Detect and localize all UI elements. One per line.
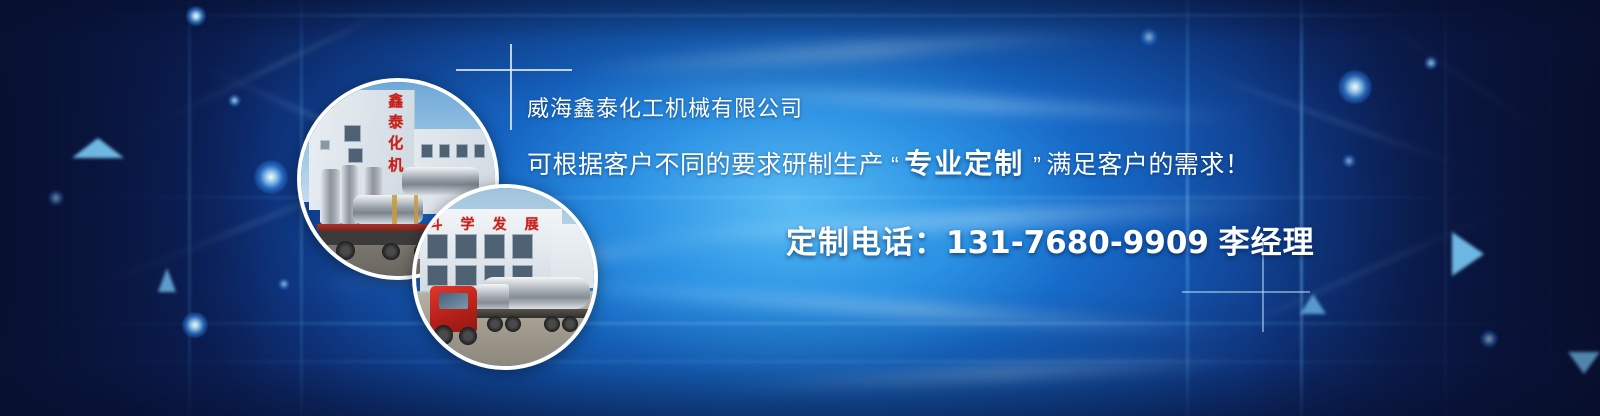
company-name: 威海鑫泰化工机械有限公司 xyxy=(527,98,803,120)
sign-char: 展 xyxy=(525,218,539,232)
glow-node xyxy=(1480,330,1498,348)
glow-node xyxy=(1342,154,1356,168)
glow-node xyxy=(278,278,290,290)
phone-line[interactable]: 定制电话：131-7680-9909 李经理 xyxy=(786,227,1315,259)
glow-node xyxy=(48,190,64,206)
phone-label: 定制电话： xyxy=(786,225,946,260)
sign-char: 化 xyxy=(388,136,403,151)
quote-close: ” xyxy=(1033,154,1041,177)
phone-contact: 李经理 xyxy=(1209,225,1315,260)
glow-node xyxy=(186,6,206,26)
crosshair-vertical-line xyxy=(510,44,512,130)
quote-open: “ xyxy=(891,154,899,177)
vertical-vessel xyxy=(320,169,341,223)
light-shard xyxy=(1452,232,1484,276)
tagline-before: 可根据客户不同的要求研制生产 xyxy=(527,153,884,178)
tagline: 可根据客户不同的要求研制生产 “ 专业定制 ” 满足客户的需求！ xyxy=(527,150,1250,178)
sign-char: 发 xyxy=(493,218,507,232)
glow-node xyxy=(228,94,241,107)
glow-node xyxy=(1338,70,1372,104)
glow-node xyxy=(254,160,288,194)
glow-node xyxy=(1140,28,1158,46)
sign-char: 泰 xyxy=(388,115,403,130)
tagline-highlight: 专业定制 xyxy=(904,150,1024,178)
light-shard xyxy=(72,138,124,158)
light-shard xyxy=(1300,294,1326,314)
sign-char: 机 xyxy=(388,158,403,173)
glow-node xyxy=(182,312,208,338)
glow-node xyxy=(1424,56,1438,70)
top-bottom-vignette xyxy=(0,0,1600,416)
sign-char: 学 xyxy=(461,218,475,232)
truck-wheel xyxy=(434,325,454,345)
tagline-after: 满足客户的需求！ xyxy=(1046,153,1250,178)
truck-tanker-photo: 斗 学 发 展 xyxy=(412,184,598,370)
truck-wheel xyxy=(459,327,477,345)
phone-number[interactable]: 131-7680-9909 xyxy=(946,225,1209,261)
crosshair-horizontal-line xyxy=(1182,291,1310,293)
promo-banner: 鑫 泰 化 机 xyxy=(0,0,1600,416)
crosshair-horizontal-line xyxy=(456,69,572,71)
light-shard xyxy=(1568,352,1600,374)
sign-char: 鑫 xyxy=(388,94,403,109)
light-shard xyxy=(158,268,176,292)
sign-char: 斗 xyxy=(428,218,442,232)
